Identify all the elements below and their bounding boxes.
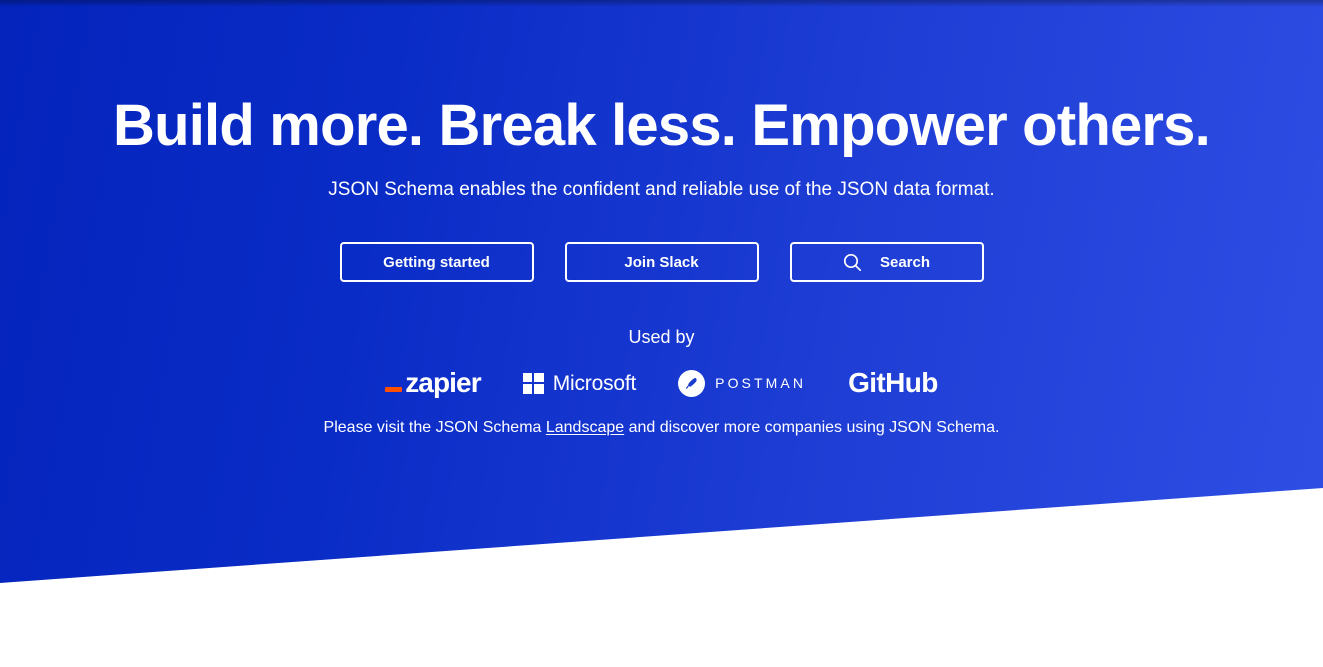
postman-rocket-icon xyxy=(678,370,705,397)
search-icon xyxy=(843,253,862,272)
used-by-label: Used by xyxy=(0,325,1323,349)
cta-button-row: Getting started Join Slack Search xyxy=(0,242,1323,282)
zapier-wordmark: zapier xyxy=(405,369,481,397)
microsoft-wordmark: Microsoft xyxy=(553,373,636,394)
search-label: Search xyxy=(880,255,930,270)
landscape-link[interactable]: Landscape xyxy=(546,419,624,436)
zapier-dash-icon xyxy=(385,387,402,392)
page-root: Build more. Break less. Empower others. … xyxy=(0,0,1323,667)
logo-postman[interactable]: POSTMAN xyxy=(678,364,806,402)
search-button[interactable]: Search xyxy=(790,242,984,282)
page-title: Build more. Break less. Empower others. xyxy=(0,92,1323,160)
join-slack-label: Join Slack xyxy=(624,255,698,270)
logo-zapier[interactable]: zapier xyxy=(385,364,481,402)
used-by-logo-row: zapier Microsoft xyxy=(0,364,1323,402)
hero-subtitle: JSON Schema enables the confident and re… xyxy=(0,177,1323,203)
landscape-note-prefix: Please visit the JSON Schema xyxy=(324,419,546,436)
logo-github[interactable]: GitHub xyxy=(848,364,938,402)
landscape-note-suffix: and discover more companies using JSON S… xyxy=(624,419,999,436)
join-slack-button[interactable]: Join Slack xyxy=(565,242,759,282)
postman-wordmark: POSTMAN xyxy=(715,376,806,390)
landscape-note: Please visit the JSON Schema Landscape a… xyxy=(0,417,1323,439)
logo-microsoft[interactable]: Microsoft xyxy=(523,364,636,402)
github-wordmark: GitHub xyxy=(848,369,938,397)
getting-started-button[interactable]: Getting started xyxy=(340,242,534,282)
hero-banner xyxy=(0,0,1323,590)
getting-started-label: Getting started xyxy=(383,255,490,270)
microsoft-squares-icon xyxy=(523,373,544,394)
